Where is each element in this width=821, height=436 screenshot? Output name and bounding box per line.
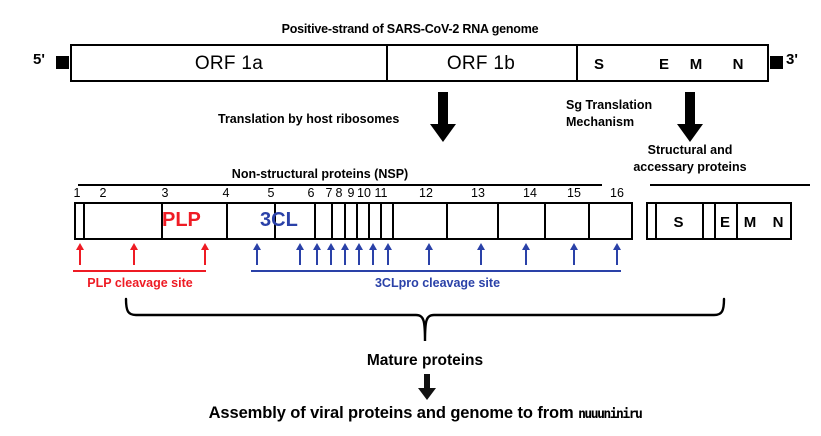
nsp-divider-14 xyxy=(544,204,546,238)
struct-s-label: S xyxy=(655,214,702,231)
tclpro-cleavage-arrow-10 xyxy=(477,243,484,265)
diagram-canvas: Positive-strand of SARS-CoV-2 RNA genome… xyxy=(0,0,821,436)
nsp-number-16: 16 xyxy=(608,186,626,200)
nsp-divider-15 xyxy=(588,204,590,238)
structural-protein-bar: S E M N xyxy=(646,202,792,240)
genome-n-label: N xyxy=(724,56,752,73)
five-prime-label: 5' xyxy=(33,51,45,68)
nsp-number-2: 2 xyxy=(96,186,110,200)
mature-proteins-label: Mature proteins xyxy=(325,352,525,370)
nsp-number-8: 8 xyxy=(333,186,345,200)
tclpro-cleavage-arrow-11 xyxy=(522,243,529,265)
five-prime-cap xyxy=(56,56,69,69)
orf1b-label: ORF 1b xyxy=(386,53,576,75)
struct-n-label: N xyxy=(764,214,792,231)
tclpro-cleavage-arrow-9 xyxy=(425,243,432,265)
nsp-number-11: 11 xyxy=(372,186,390,200)
sg-translation-label-line1: Sg Translation xyxy=(566,98,652,112)
orf1a-label: ORF 1a xyxy=(72,53,386,75)
plp-cleavage-arrow-1 xyxy=(76,243,83,265)
nsp-divider-10 xyxy=(380,204,382,238)
tclpro-cleavage-arrow-8 xyxy=(384,243,391,265)
nsp-number-10: 10 xyxy=(355,186,373,200)
struct-divider-2 xyxy=(702,204,704,238)
tclpro-cleavage-arrow-2 xyxy=(296,243,303,265)
struct-m-label: M xyxy=(736,214,764,231)
nsp-divider-7 xyxy=(344,204,346,238)
nsp-divider-12 xyxy=(446,204,448,238)
nsp-number-13: 13 xyxy=(469,186,487,200)
three-prime-label: 3' xyxy=(786,51,798,68)
nsp-header-label: Non-structural proteins (NSP) xyxy=(150,167,490,181)
three-prime-cap xyxy=(770,56,783,69)
nsp-divider-8 xyxy=(356,204,358,238)
nsp-number-1: 1 xyxy=(70,186,84,200)
plp-label: PLP xyxy=(162,209,201,232)
nsp-divider-5 xyxy=(314,204,316,238)
mature-to-assembly-arrow-icon xyxy=(418,374,436,405)
nsp-divider-13 xyxy=(497,204,499,238)
sg-translation-label-line2: Mechanism xyxy=(566,115,634,129)
nsp-bar: PLP 3CL xyxy=(74,202,633,240)
nsp-number-12: 12 xyxy=(417,186,435,200)
nsp-divider-6 xyxy=(331,204,333,238)
nsp-number-14: 14 xyxy=(521,186,539,200)
tclpro-cleavage-arrow-1 xyxy=(253,243,260,265)
nsp-number-6: 6 xyxy=(304,186,318,200)
nsp-number-3: 3 xyxy=(158,186,172,200)
assembly-line: Assembly of viral proteins and genome to… xyxy=(100,404,750,423)
tclpro-cleavage-rule xyxy=(251,270,621,272)
plp-cleavage-label: PLP cleavage site xyxy=(60,276,220,290)
tclpro-cleavage-label: 3CLpro cleavage site xyxy=(320,276,555,290)
tclpro-cleavage-arrow-4 xyxy=(327,243,334,265)
tclpro-cleavage-arrow-7 xyxy=(369,243,376,265)
structural-header-rule xyxy=(650,184,810,186)
nsp-number-4: 4 xyxy=(219,186,233,200)
assembly-garbled-text: nuuuniniru xyxy=(578,407,641,422)
nsp-number-5: 5 xyxy=(264,186,278,200)
nsp-divider-9 xyxy=(368,204,370,238)
plp-cleavage-arrow-2 xyxy=(130,243,137,265)
struct-e-label: E xyxy=(714,214,736,231)
tclpro-cleavage-arrow-5 xyxy=(341,243,348,265)
tclpro-cleavage-arrow-6 xyxy=(355,243,362,265)
plp-cleavage-rule xyxy=(73,270,206,272)
tclpro-cleavage-arrow-12 xyxy=(570,243,577,265)
nsp-number-15: 15 xyxy=(565,186,583,200)
nsp-divider-11 xyxy=(392,204,394,238)
plp-cleavage-arrow-3 xyxy=(201,243,208,265)
genome-e-label: E xyxy=(650,56,678,73)
genome-s-label: S xyxy=(582,56,616,73)
genome-title: Positive-strand of SARS-CoV-2 RNA genome xyxy=(150,22,670,36)
tclpro-cleavage-arrow-3 xyxy=(313,243,320,265)
nsp-divider-3 xyxy=(226,204,228,238)
mature-proteins-brace xyxy=(120,297,730,348)
assembly-text: Assembly of viral proteins and genome to… xyxy=(209,404,578,422)
tcl-label: 3CL xyxy=(260,209,298,232)
genome-m-label: M xyxy=(682,56,710,73)
tclpro-cleavage-arrow-13 xyxy=(613,243,620,265)
translation-label: Translation by host ribosomes xyxy=(218,112,399,126)
nsp-divider-1 xyxy=(83,204,85,238)
structural-proteins-label-line2: accessary proteins xyxy=(600,160,780,174)
structural-proteins-label-line1: Structural and xyxy=(600,143,780,157)
translation-arrow-icon xyxy=(430,92,456,142)
genome-divider-orf1b-structural xyxy=(576,46,578,80)
sg-translation-arrow-icon xyxy=(677,92,703,142)
genome-bar: ORF 1a ORF 1b S E M N xyxy=(70,44,769,82)
